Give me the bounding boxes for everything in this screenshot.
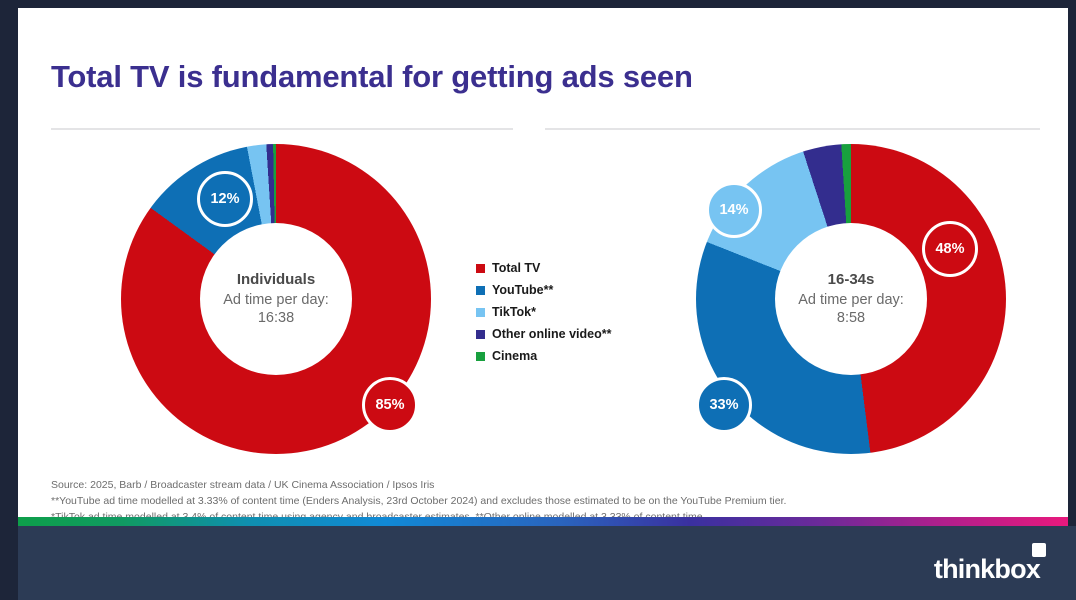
donut-center-value: 16:38 [258,309,294,328]
legend-item-total-tv: Total TV [476,258,646,278]
donut-chart-individuals: Individuals Ad time per day: 16:38 12% 8… [121,144,431,454]
data-label-total-tv-individuals: 85% [362,377,418,433]
legend-label: Cinema [492,349,537,363]
legend-item-tiktok: TikTok* [476,302,646,322]
legend-label: TikTok* [492,305,536,319]
legend-item-cinema: Cinema [476,346,646,366]
thinkbox-square-icon [1032,543,1046,557]
donut-center-label-16-34s: 16-34s Ad time per day: 8:58 [775,223,927,375]
divider-right [545,128,1040,130]
slide-canvas: Total TV is fundamental for getting ads … [18,8,1068,592]
legend-item-youtube: YouTube** [476,280,646,300]
donut-center-label-individuals: Individuals Ad time per day: 16:38 [200,223,352,375]
donut-chart-16-34s: 16-34s Ad time per day: 8:58 14% 48% 33% [696,144,1006,454]
brand-gradient-bar [18,517,1068,526]
legend-swatch-icon [476,352,485,361]
donut-center-subtitle: Ad time per day: [798,291,904,310]
donut-center-value: 8:58 [837,309,865,328]
legend-label: Other online video** [492,327,611,341]
donut-center-subtitle: Ad time per day: [223,291,329,310]
legend-swatch-icon [476,286,485,295]
source-line: **YouTube ad time modelled at 3.33% of c… [51,494,1031,510]
thinkbox-wordmark: thinkbox [934,556,1040,583]
legend-label: Total TV [492,261,540,275]
charts-area: Individuals Ad time per day: 16:38 12% 8… [18,136,1068,476]
legend-swatch-icon [476,330,485,339]
chart-legend: Total TV YouTube** TikTok* Other online … [476,258,646,368]
data-label-youtube-individuals: 12% [197,171,253,227]
data-label-total-tv-16-34s: 48% [922,221,978,277]
legend-swatch-icon [476,308,485,317]
footer-accent-left [0,526,18,600]
donut-center-title: 16-34s [828,270,875,289]
page-title: Total TV is fundamental for getting ads … [51,59,693,95]
legend-label: YouTube** [492,283,553,297]
data-label-youtube-16-34s: 33% [696,377,752,433]
data-label-tiktok-16-34s: 14% [706,182,762,238]
slide-frame: Total TV is fundamental for getting ads … [0,0,1076,600]
legend-item-other-online-video: Other online video** [476,324,646,344]
donut-center-title: Individuals [237,270,315,289]
divider-left [51,128,513,130]
legend-swatch-icon [476,264,485,273]
source-line: Source: 2025, Barb / Broadcaster stream … [51,478,1031,494]
footer-bar: thinkbox [0,526,1076,600]
